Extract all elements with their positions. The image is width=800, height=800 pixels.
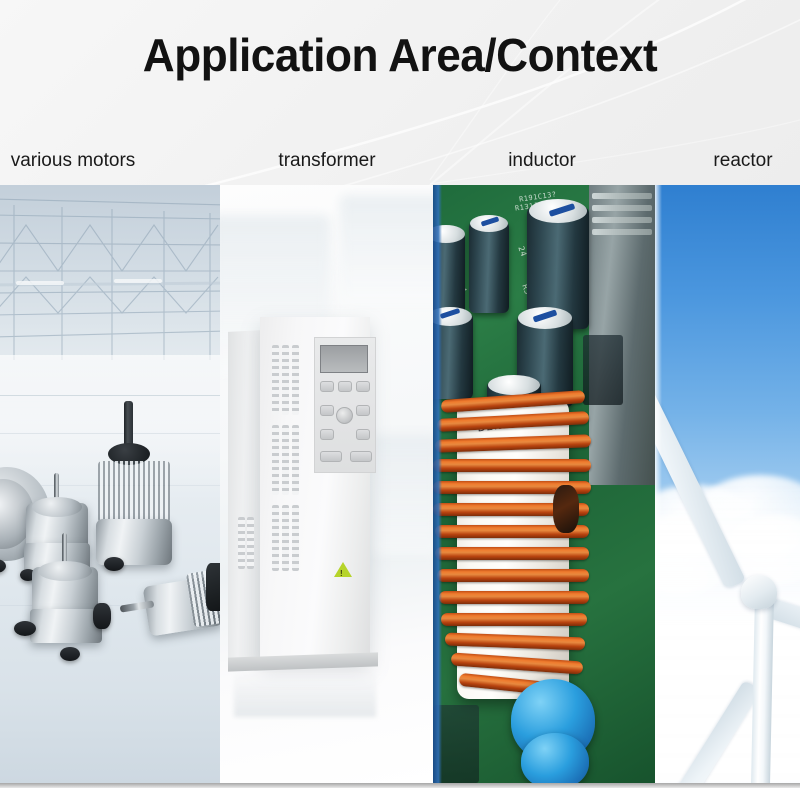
copper-coil-turn	[439, 591, 589, 604]
blue-disc-capacitor	[521, 733, 589, 783]
vfd-keypad-button	[338, 381, 352, 392]
background-blur-shape	[340, 195, 433, 305]
panel-label-reactor: reactor	[713, 150, 772, 172]
vfd-vent-slot	[282, 345, 289, 415]
vfd-keypad-button	[356, 381, 370, 392]
coil-tie-wrap	[553, 485, 579, 533]
panel-edge-highlight	[655, 185, 662, 783]
vfd-keypad-button	[350, 451, 372, 462]
turbine-hub	[741, 575, 777, 609]
panel-transformer: !	[220, 185, 433, 783]
vfd-vent-slot	[292, 425, 299, 495]
panel-label-various-motors: various motors	[11, 150, 136, 172]
vfd-keypad-button	[320, 381, 334, 392]
vfd-display-screen	[320, 345, 368, 373]
vfd-vent-slot	[238, 517, 245, 569]
floor-line	[0, 395, 220, 396]
vfd-vent-slot	[282, 505, 289, 571]
vfd-keypad-button	[356, 429, 370, 440]
floor-line	[0, 433, 220, 434]
panel-reactor	[655, 185, 800, 783]
capacitor-top	[488, 375, 540, 395]
electrolytic-capacitor	[469, 221, 509, 313]
panel-inductor: R191C13? R131J CN6 C12 24 R5 C4 EE25-9B6	[433, 185, 655, 783]
vfd-keypad-button	[356, 405, 370, 416]
warning-triangle-glyph: !	[340, 569, 343, 578]
vfd-vent-slot	[247, 517, 254, 569]
application-image-strip: ! R191C13? R131J CN6 C12 24 R5 C4 EE25-9…	[0, 185, 800, 783]
vfd-vent-slot	[272, 425, 279, 495]
copper-coil-turn	[437, 569, 589, 582]
vfd-keypad-button	[320, 429, 334, 440]
panel-label-inductor: inductor	[508, 150, 576, 172]
vfd-vent-slot	[272, 345, 279, 415]
panel-label-transformer: transformer	[278, 150, 375, 172]
background-blur-shape	[370, 435, 433, 555]
copper-coil-turn	[433, 459, 591, 472]
copper-coil-turn	[441, 613, 587, 626]
pcb-edge-highlight	[433, 185, 442, 783]
vfd-vent-slot	[292, 345, 299, 415]
page-bottom-band	[0, 788, 800, 800]
vfd-keypad-button	[320, 451, 342, 462]
panel-various-motors	[0, 185, 220, 783]
vfd-rotary-knob	[336, 407, 353, 424]
vfd-floor-reflection	[234, 669, 376, 717]
vfd-vent-slot	[282, 425, 289, 495]
vfd-vent-slot	[292, 505, 299, 571]
vfd-keypad-button	[320, 405, 334, 416]
vfd-vent-slot	[272, 505, 279, 571]
vfd-side-wall	[228, 330, 262, 662]
copper-coil-turn	[435, 547, 589, 560]
page-title: Application Area/Context	[16, 28, 784, 82]
factory-ceiling-trusses	[0, 185, 220, 370]
pcb-component-block	[583, 335, 623, 405]
warning-triangle-icon	[334, 562, 352, 577]
